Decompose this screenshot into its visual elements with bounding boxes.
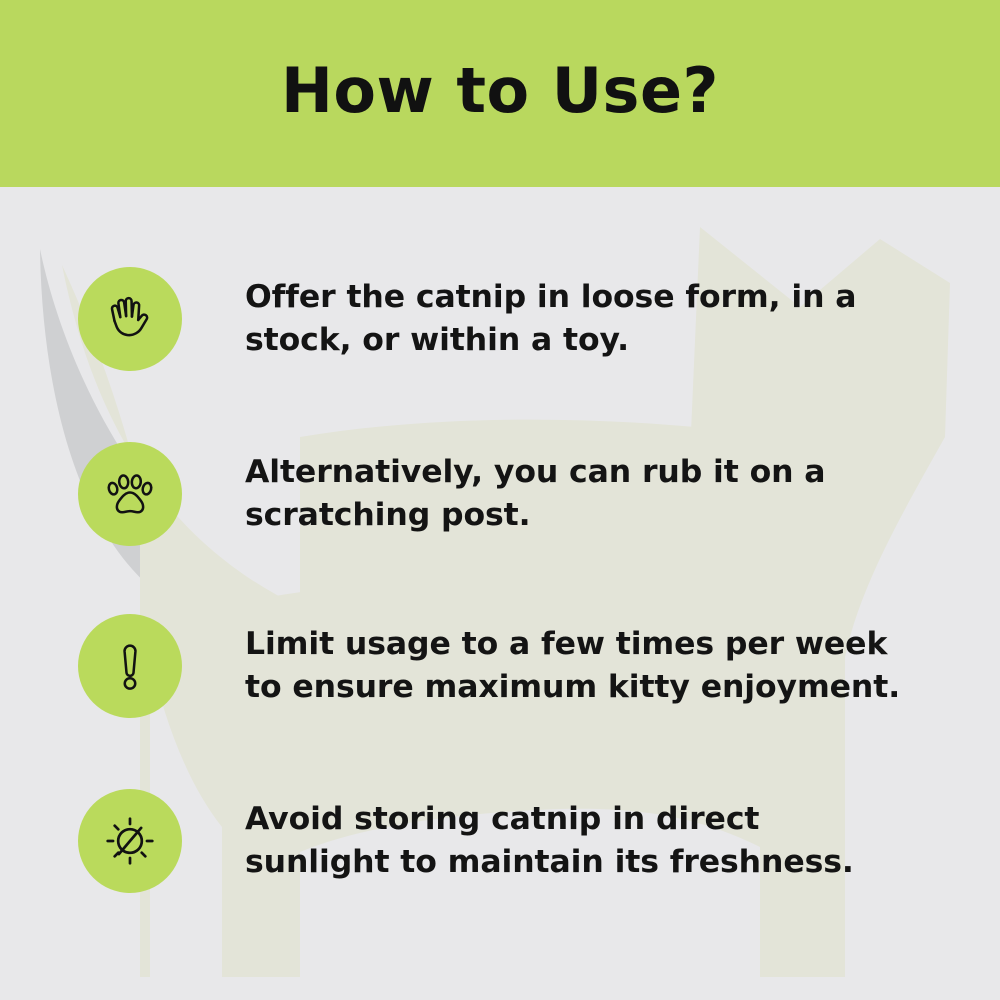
poster-canvas: How to Use? Offer the xyxy=(0,0,1000,1000)
list-item: Avoid storing catnip in direct sunlight … xyxy=(78,789,968,893)
list-item: Alternatively, you can rub it on a scrat… xyxy=(78,442,968,546)
list-item-text: Alternatively, you can rub it on a scrat… xyxy=(245,451,968,537)
list-item: Offer the catnip in loose form, in a sto… xyxy=(78,267,968,371)
list-item-text: Limit usage to a few times per week to e… xyxy=(245,623,968,709)
list-item: Limit usage to a few times per week to e… xyxy=(78,614,968,718)
header-band: How to Use? xyxy=(0,0,1000,187)
tips-list: Offer the catnip in loose form, in a sto… xyxy=(0,187,1000,1000)
no-sunlight-icon xyxy=(78,789,182,893)
list-item-text: Offer the catnip in loose form, in a sto… xyxy=(245,276,968,362)
page-title: How to Use? xyxy=(281,60,719,128)
paw-print-icon xyxy=(78,442,182,546)
list-item-text: Avoid storing catnip in direct sunlight … xyxy=(245,798,968,884)
exclamation-mark-icon xyxy=(78,614,182,718)
hand-icon xyxy=(78,267,182,371)
